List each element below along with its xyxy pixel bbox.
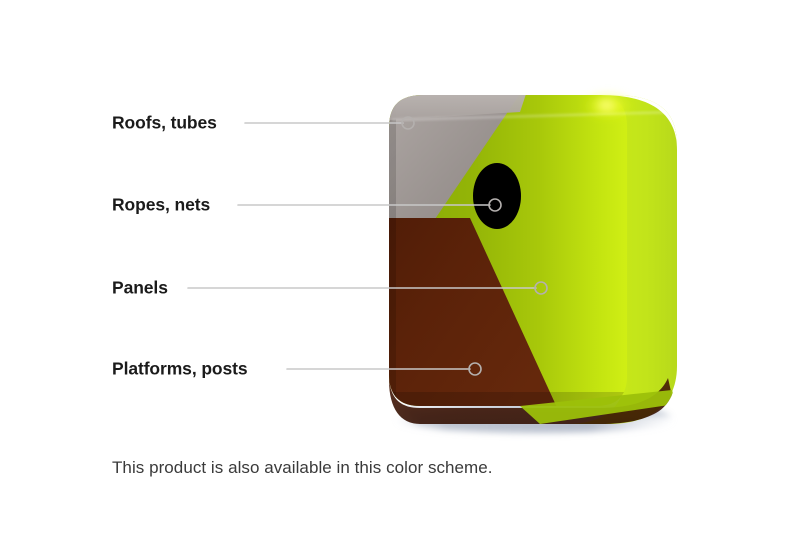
specular-core xyxy=(598,101,614,110)
black-circle-hole-icon xyxy=(473,163,521,229)
callout-label-0: Roofs, tubes xyxy=(112,114,217,132)
caption-text: This product is also available in this c… xyxy=(112,458,493,478)
illustration-canvas: Roofs, tubesRopes, netsPanelsPlatforms, … xyxy=(0,0,800,533)
callout-label-2: Panels xyxy=(112,279,168,297)
callout-label-1: Ropes, nets xyxy=(112,196,210,214)
callout-label-3: Platforms, posts xyxy=(112,360,248,378)
product-illustration xyxy=(0,0,800,533)
product-front-face xyxy=(380,88,636,414)
